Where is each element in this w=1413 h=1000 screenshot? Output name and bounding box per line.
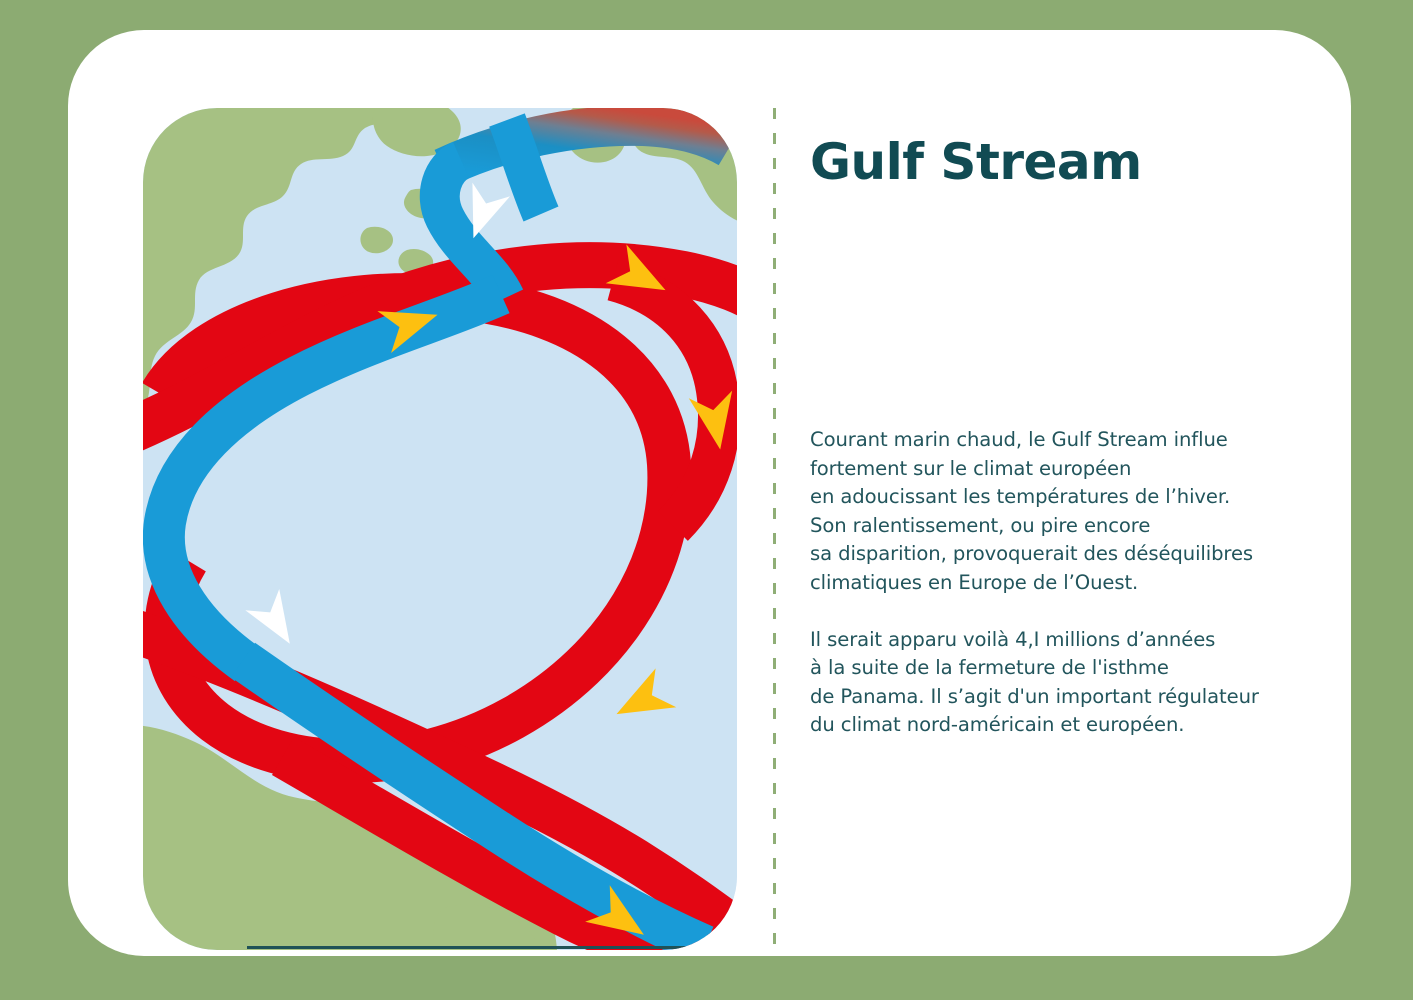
paragraph-origin-history: Il serait apparu voilà 4,I millions d’an…: [810, 626, 1320, 740]
paragraph-climate-influence: Courant marin chaud, le Gulf Stream infl…: [810, 426, 1320, 598]
info-card: Gulf Stream Courant marin chaud, le Gulf…: [68, 30, 1351, 956]
dashed-vertical-divider: [773, 108, 776, 951]
map-baseline-rule: [247, 946, 687, 949]
page-title: Gulf Stream: [810, 135, 1142, 190]
poster-stage: Gulf Stream Courant marin chaud, le Gulf…: [0, 0, 1413, 1000]
text-column: Gulf Stream Courant marin chaud, le Gulf…: [810, 108, 1330, 951]
description-block: Courant marin chaud, le Gulf Stream infl…: [810, 426, 1320, 740]
gulf-stream-map-illustration: [143, 108, 737, 950]
map-svg: [143, 108, 737, 950]
